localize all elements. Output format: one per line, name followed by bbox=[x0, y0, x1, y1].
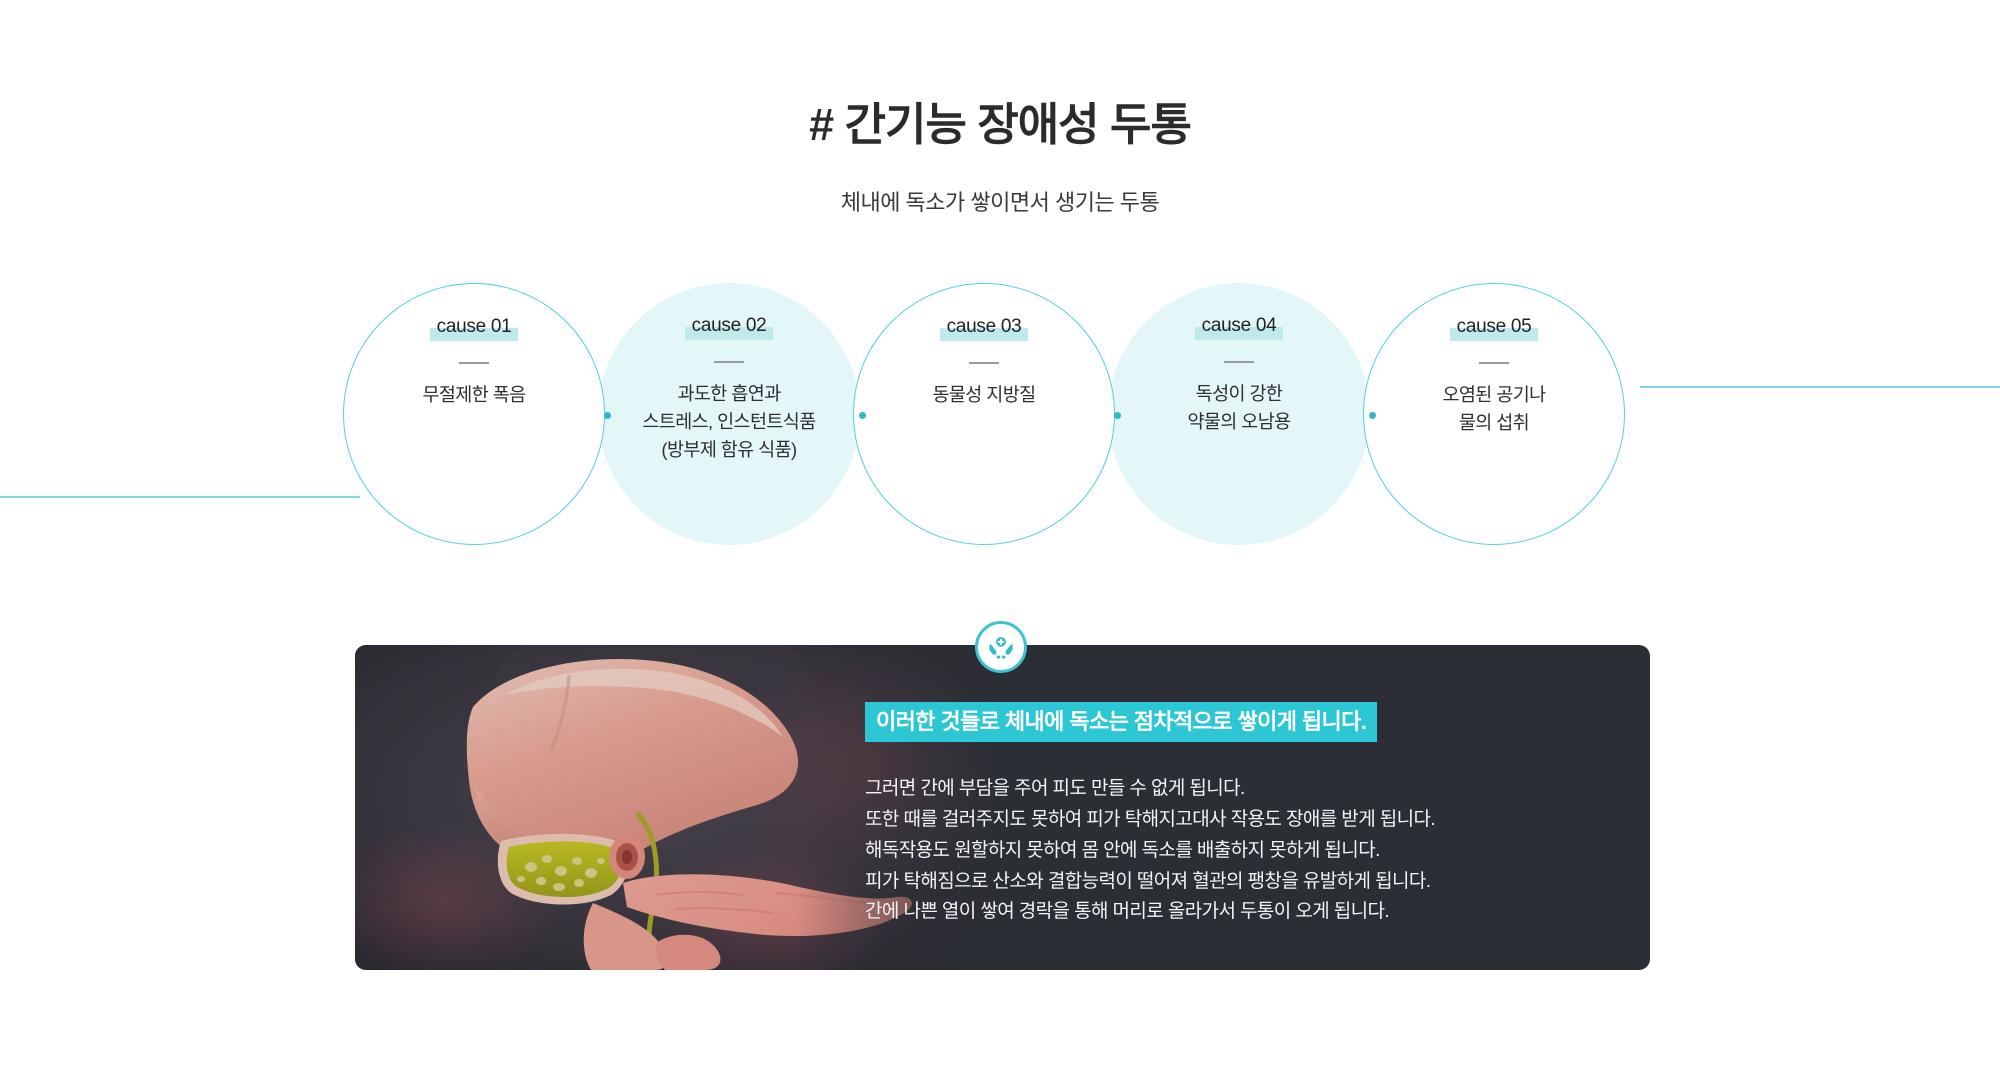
info-panel: 이러한 것들로 체내에 독소는 점차적으로 쌓이게 됩니다. 그러면 간에 부담… bbox=[355, 645, 1650, 970]
cause-text-2: 과도한 흡연과 스트레스, 인스턴트식품 (방부제 함유 식품) bbox=[642, 380, 815, 464]
panel-content: 이러한 것들로 체내에 독소는 점차적으로 쌓이게 됩니다. 그러면 간에 부담… bbox=[865, 702, 1605, 928]
page-title: # 간기능 장애성 두통 bbox=[0, 88, 2000, 153]
cause-label-1: cause 01 bbox=[430, 317, 519, 338]
cause-divider-2 bbox=[714, 361, 744, 363]
panel-body-line-5: 간에 나쁜 열이 쌓여 경락을 통해 머리로 올라가서 두통이 오게 됩니다. bbox=[865, 897, 1605, 928]
cause-divider-5 bbox=[1479, 362, 1509, 364]
cause-circle-1[interactable]: cause 01 무절제한 폭음 bbox=[343, 283, 605, 545]
panel-body-line-1: 그러면 간에 부담을 주어 피도 만들 수 없게 됩니다. bbox=[865, 774, 1605, 805]
cause-label-3: cause 03 bbox=[940, 317, 1029, 338]
cause-divider-1 bbox=[459, 362, 489, 364]
circle-joint-dot-4 bbox=[1369, 412, 1376, 419]
cause-text-4: 독성이 강한 약물의 오남용 bbox=[1187, 380, 1290, 436]
page-subtitle: 체내에 독소가 쌓이면서 생기는 두통 bbox=[0, 185, 2000, 217]
cause-circle-2[interactable]: cause 02 과도한 흡연과 스트레스, 인스턴트식품 (방부제 함유 식품… bbox=[598, 283, 860, 545]
cause-divider-4 bbox=[1224, 361, 1254, 363]
cause-circle-3[interactable]: cause 03 동물성 지방질 bbox=[853, 283, 1115, 545]
circle-joint-dot-3 bbox=[1114, 412, 1121, 419]
circle-joint-dot-1 bbox=[604, 412, 611, 419]
cause-text-1: 무절제한 폭음 bbox=[422, 381, 525, 409]
panel-body-line-4: 피가 탁해짐으로 산소와 결합능력이 떨어져 혈관의 팽창을 유발하게 됩니다. bbox=[865, 867, 1605, 898]
panel-body: 그러면 간에 부담을 주어 피도 만들 수 없게 됩니다. 또한 때를 걸러주지… bbox=[865, 774, 1605, 928]
circle-joint-dot-2 bbox=[859, 412, 866, 419]
cause-text-3: 동물성 지방질 bbox=[932, 381, 1035, 409]
cause-circle-4[interactable]: cause 04 독성이 강한 약물의 오남용 bbox=[1108, 283, 1370, 545]
cause-label-4: cause 04 bbox=[1195, 316, 1284, 337]
panel-headline: 이러한 것들로 체내에 독소는 점차적으로 쌓이게 됩니다. bbox=[865, 702, 1377, 742]
cause-circle-row: cause 01 무절제한 폭음 cause 02 과도한 흡연과 스트레스, … bbox=[0, 283, 2000, 545]
cause-label-5: cause 05 bbox=[1450, 317, 1539, 338]
cause-circle-5[interactable]: cause 05 오염된 공기나 물의 섭취 bbox=[1363, 283, 1625, 545]
hands-holding-medical-cross-icon bbox=[975, 621, 1027, 673]
page-root: # 간기능 장애성 두통 체내에 독소가 쌓이면서 생기는 두통 cause 0… bbox=[0, 0, 2000, 1070]
cause-label-2: cause 02 bbox=[685, 316, 774, 337]
panel-body-line-3: 해독작용도 원할하지 못하여 몸 안에 독소를 배출하지 못하게 됩니다. bbox=[865, 836, 1605, 867]
cause-text-5: 오염된 공기나 물의 섭취 bbox=[1442, 381, 1545, 437]
cause-divider-3 bbox=[969, 362, 999, 364]
panel-body-line-2: 또한 때를 걸러주지도 못하여 피가 탁해지고대사 작용도 장애를 받게 됩니다… bbox=[865, 805, 1605, 836]
